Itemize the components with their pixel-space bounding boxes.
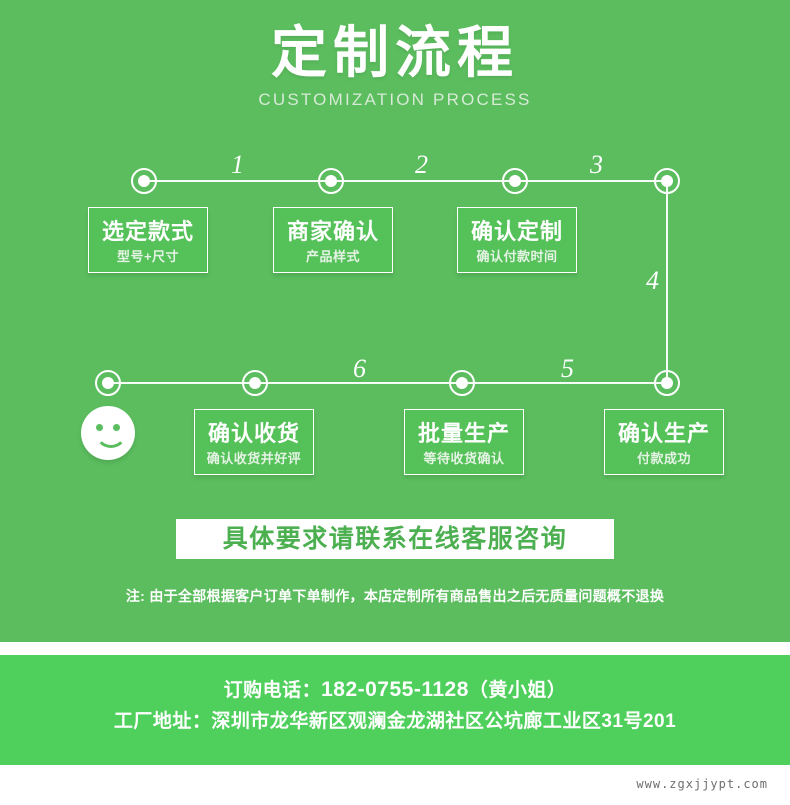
flow-track-bottom [108, 382, 668, 384]
flow-step-box-2[interactable]: 商家确认 产品样式 [273, 207, 393, 273]
step-number-1: 1 [231, 152, 244, 178]
smiley-right-eye-icon [113, 424, 120, 431]
flow-step-subtitle-2: 产品样式 [274, 249, 392, 265]
flow-track-right [666, 180, 668, 384]
callout-text: 具体要求请联系在线客服咨询 [223, 525, 568, 553]
flow-step-title-3: 确认定制 [458, 219, 576, 245]
flow-node-7 [242, 370, 268, 396]
callout-banner[interactable]: 具体要求请联系在线客服咨询 [176, 519, 614, 559]
flow-node-3 [502, 168, 528, 194]
flow-step-box-3[interactable]: 确认定制 确认付款时间 [457, 207, 577, 273]
flow-node-2 [318, 168, 344, 194]
site-watermark: www.zgxjjypt.com [636, 777, 768, 791]
flow-node-4 [654, 168, 680, 194]
flow-node-6 [449, 370, 475, 396]
flow-step-title-5: 批量生产 [405, 421, 523, 447]
step-number-3: 3 [590, 152, 603, 178]
step-number-5: 5 [561, 356, 574, 382]
smiley-face-icon [81, 406, 135, 460]
footer-phone-number: 182-0755-1128 [321, 678, 469, 701]
flow-step-box-1[interactable]: 选定款式 型号+尺寸 [88, 207, 208, 273]
flow-step-box-4[interactable]: 确认生产 付款成功 [604, 409, 724, 475]
footer-phone-label: 订购电话： [224, 680, 322, 701]
flow-step-subtitle-4: 付款成功 [605, 451, 723, 467]
flow-step-title-4: 确认生产 [605, 421, 723, 447]
flow-step-title-1: 选定款式 [89, 219, 207, 245]
flow-step-title-6: 确认收货 [195, 421, 313, 447]
flow-step-box-5[interactable]: 批量生产 等待收货确认 [404, 409, 524, 475]
footer-phone-line: 订购电话：182-0755-1128（黄小姐） [0, 677, 790, 704]
step-number-2: 2 [415, 152, 428, 178]
flow-step-title-2: 商家确认 [274, 219, 392, 245]
flow-node-1 [131, 168, 157, 194]
flow-track-top [144, 180, 668, 182]
step-number-4: 4 [646, 268, 659, 294]
step-number-6: 6 [353, 356, 366, 382]
flow-step-box-6[interactable]: 确认收货 确认收货并好评 [194, 409, 314, 475]
disclaimer-note: 注: 由于全部根据客户订单下单制作，本店定制所有商品售出之后无质量问题概不退换 [0, 586, 790, 606]
flow-step-subtitle-5: 等待收货确认 [405, 451, 523, 467]
flow-step-subtitle-1: 型号+尺寸 [89, 249, 207, 265]
customization-process-banner: 定制流程 CUSTOMIZATION PROCESS 1 2 3 [0, 0, 790, 805]
flow-step-subtitle-3: 确认付款时间 [458, 249, 576, 265]
footer-phone-contact: （黄小姐） [469, 680, 567, 701]
flow-step-subtitle-6: 确认收货并好评 [195, 451, 313, 467]
smiley-left-eye-icon [96, 424, 103, 431]
footer-contact-panel: 订购电话：182-0755-1128（黄小姐） 工厂地址：深圳市龙华新区观澜金龙… [0, 655, 790, 765]
footer-address-label: 工厂地址： [114, 711, 212, 732]
main-green-panel: 定制流程 CUSTOMIZATION PROCESS 1 2 3 [0, 0, 790, 642]
footer-address-value: 深圳市龙华新区观澜金龙湖社区公坑廊工业区31号201 [211, 711, 676, 732]
footer-address-line: 工厂地址：深圳市龙华新区观澜金龙湖社区公坑廊工业区31号201 [0, 709, 790, 735]
flow-node-8 [95, 370, 121, 396]
smiley-mouth-icon [95, 432, 127, 448]
flow-node-5 [654, 370, 680, 396]
